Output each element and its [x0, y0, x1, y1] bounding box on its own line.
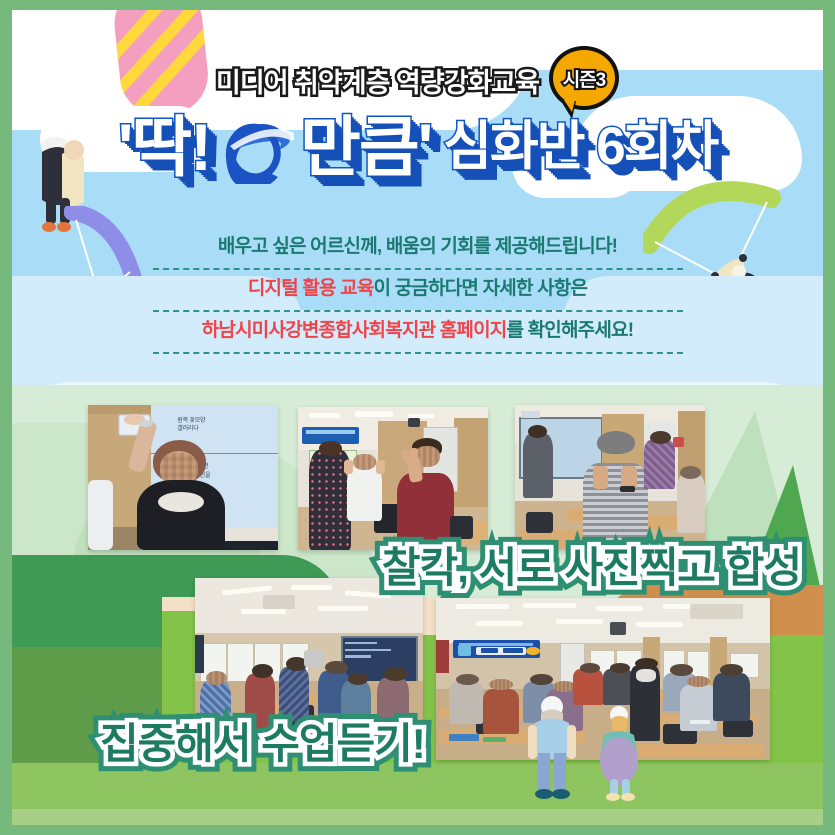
poster-root: 미디어 취약계층 역량강화교육 시즌3 '딱! 만큼' 심화반 6회차 배우고 …: [0, 0, 835, 835]
title-part2: 만큼': [300, 94, 431, 190]
photo-woman-posing: [515, 405, 705, 550]
title-part1: '딱!: [118, 94, 210, 190]
walking-man-illustration: [517, 695, 587, 805]
message-line-1: 배우고 싶은 어르신께, 배움의 기회를 제공해드립니다!: [12, 228, 823, 268]
message-line-2-rest: 이 궁금하다면 자세한 사항은: [374, 278, 588, 299]
grass-foreground-strip: [12, 809, 823, 825]
caption-right: 찰칵, 서로 사진찍고 합성: [382, 534, 801, 595]
internet-explorer-e-icon: [216, 112, 294, 184]
photo-woman-raising-hand: 원쪽 꽃모양 갤러리다 중간에+ 누르면 찰라놓은 사진을 다음 완료: [88, 405, 278, 550]
title-suffix: 심화반 6회차: [443, 104, 717, 180]
message-line-3-rest: 를 확인해주세요!: [506, 320, 633, 341]
main-title-row: '딱! 만큼' 심화반 6회차: [12, 94, 823, 190]
message-line-3: 하남시미사강변종합사회복지관 홈페이지를 확인해주세요!: [12, 312, 823, 352]
walking-woman-illustration: [590, 705, 648, 803]
message-line-2-highlight: 디지털 활용 교육: [248, 278, 374, 299]
message-line-3-highlight: 하남시미사강변종합사회복지관 홈페이지: [202, 320, 507, 341]
message-divider-3: [153, 352, 683, 354]
poster-canvas: 미디어 취약계층 역량강화교육 시즌3 '딱! 만큼' 심화반 6회차 배우고 …: [12, 10, 823, 825]
message-line-2: 디지털 활용 교육이 궁금하다면 자세한 사항은: [12, 270, 823, 310]
message-block: 배우고 싶은 어르신께, 배움의 기회를 제공해드립니다! 디지털 활용 교육이…: [12, 228, 823, 354]
caption-left: 집중해서 수업듣기!: [100, 710, 425, 771]
photo-man-v-sign: [298, 407, 488, 550]
